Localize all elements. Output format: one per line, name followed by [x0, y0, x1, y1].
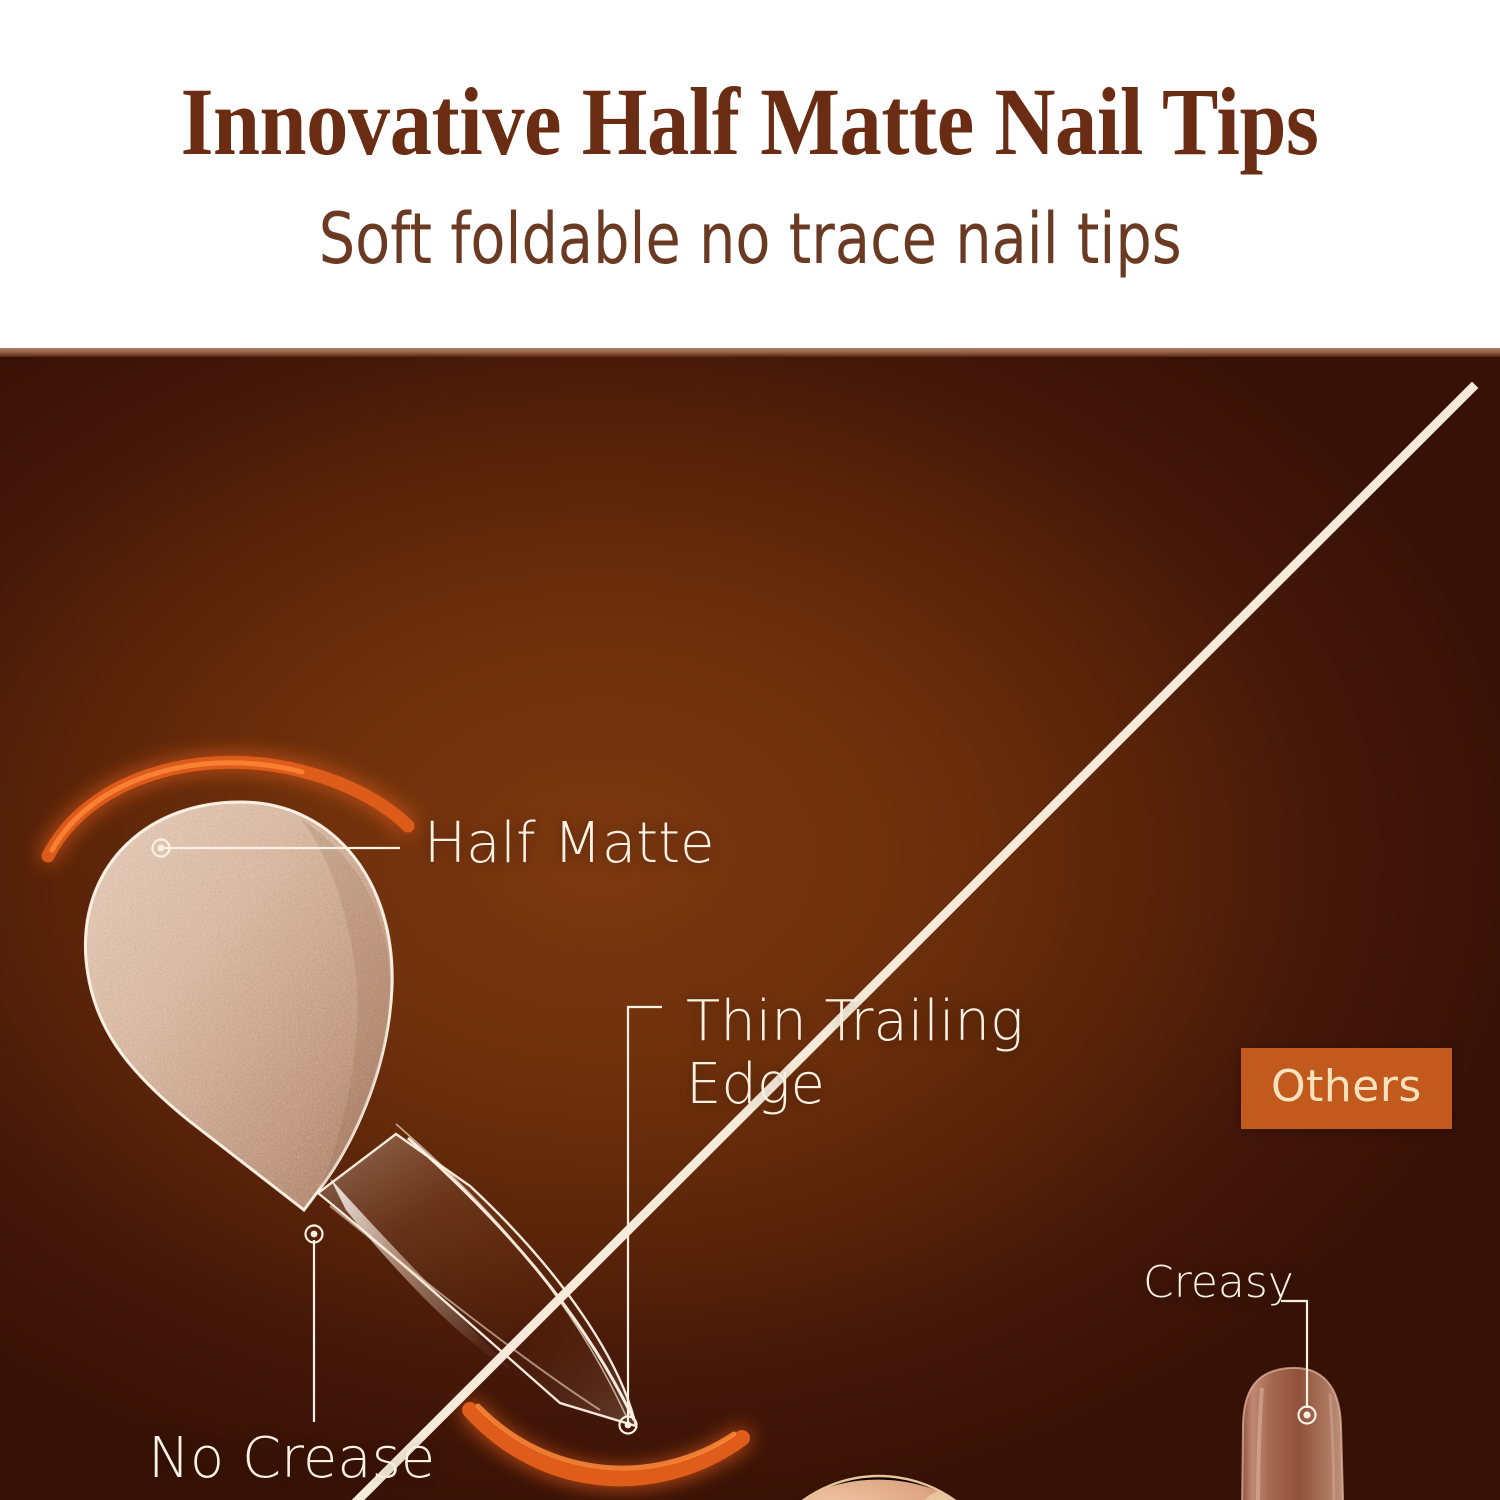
modelones-nail-tip [85, 802, 636, 1426]
page-title: Innovative Half Matte Nail Tips [181, 74, 1319, 170]
callout-no-crease: No Crease [148, 1428, 435, 1491]
artwork-layer [0, 348, 1500, 1500]
bending-nail-tip-photo [738, 1476, 1009, 1500]
comparison-panel: Half Matte Thin Trailing Edge No Crease … [0, 348, 1500, 1500]
callout-half-matte: Half Matte [424, 813, 715, 876]
others-nail-tip [1240, 1368, 1348, 1500]
callout-creasy: Creasy [1143, 1258, 1294, 1307]
header: Innovative Half Matte Nail Tips Soft fol… [0, 0, 1500, 348]
leader-no-crease [306, 1226, 323, 1423]
badge-others: Others [1241, 1048, 1452, 1129]
product-infographic: Innovative Half Matte Nail Tips Soft fol… [0, 0, 1500, 1500]
page-subtitle: Soft foldable no trace nail tips [319, 204, 1182, 274]
callout-thin-trailing-edge: Thin Trailing Edge [686, 991, 1024, 1116]
